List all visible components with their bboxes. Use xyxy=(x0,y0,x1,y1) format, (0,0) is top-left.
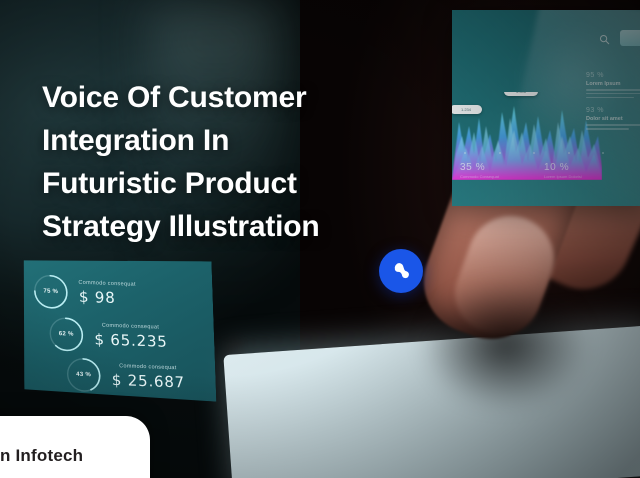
company-badge: n Infotech xyxy=(0,416,150,478)
headline-line-4: Strategy Illustration xyxy=(42,205,437,248)
page-title: Voice Of Customer Integration In Futuris… xyxy=(42,76,437,248)
headline-line-2: Integration In xyxy=(42,119,437,162)
company-name: n Infotech xyxy=(0,446,83,466)
promo-banner: 1.234 3.508 95 % Lorem Ipsum 93 % Dolor … xyxy=(0,0,640,478)
headline-line-1: Voice Of Customer xyxy=(42,76,437,119)
headline-line-3: Futuristic Product xyxy=(42,162,437,205)
brand-logo-button[interactable] xyxy=(379,249,423,293)
chevron-right-logo-icon xyxy=(389,259,413,283)
